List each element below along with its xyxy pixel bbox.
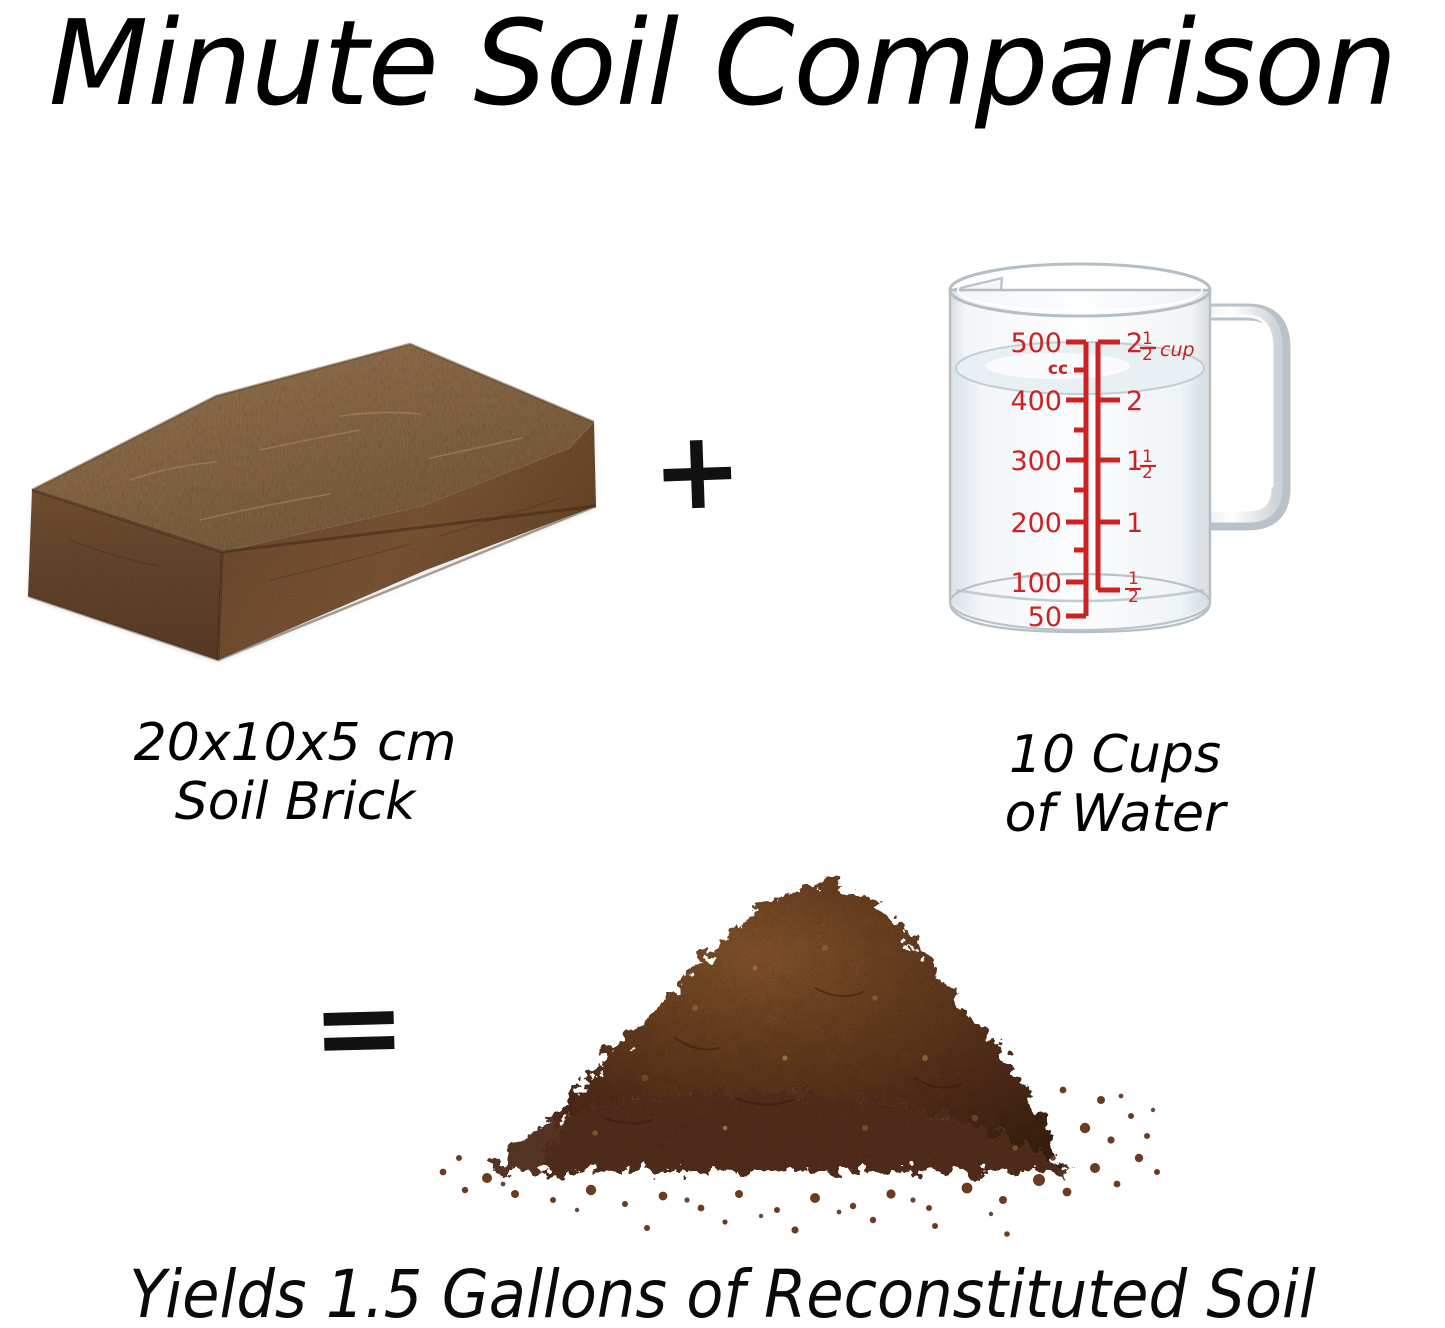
measuring-cup-image: 500 400 300 200 100 50 cc 2 1 2 cup 2 1 …	[880, 250, 1310, 670]
svg-text:50: 50	[1028, 602, 1062, 633]
svg-text:2: 2	[1126, 386, 1143, 417]
result-caption: Yields 1.5 Gallons of Reconstituted Soil	[58, 1256, 1387, 1328]
svg-text:400: 400	[1010, 386, 1062, 417]
soil-brick-caption: 20x10x5 cm Soil Brick	[30, 714, 560, 833]
svg-text:500: 500	[1010, 328, 1062, 359]
svg-text:1: 1	[1128, 569, 1139, 589]
cup-handle	[1200, 312, 1282, 522]
soil-brick-image	[10, 330, 630, 680]
svg-text:200: 200	[1010, 508, 1062, 539]
plus-operator: +	[650, 416, 744, 527]
svg-text:300: 300	[1010, 446, 1062, 477]
infographic-page: Minute Soil Comparison	[0, 0, 1445, 1328]
soil-mound-image	[395, 828, 1185, 1253]
cup-cc-unit-label: cc	[1048, 359, 1068, 379]
cup-water	[956, 368, 1204, 626]
equals-operator: =	[311, 971, 408, 1085]
svg-text:100: 100	[1010, 568, 1062, 599]
svg-text:2: 2	[1126, 328, 1143, 359]
svg-text:1: 1	[1126, 508, 1143, 539]
soil-brick-illustration	[10, 330, 630, 680]
page-title: Minute Soil Comparison	[14, 0, 1430, 132]
svg-text:cup: cup	[1160, 339, 1195, 361]
svg-text:1: 1	[1126, 446, 1143, 477]
measuring-cup-caption: 10 Cups of Water	[905, 726, 1325, 845]
